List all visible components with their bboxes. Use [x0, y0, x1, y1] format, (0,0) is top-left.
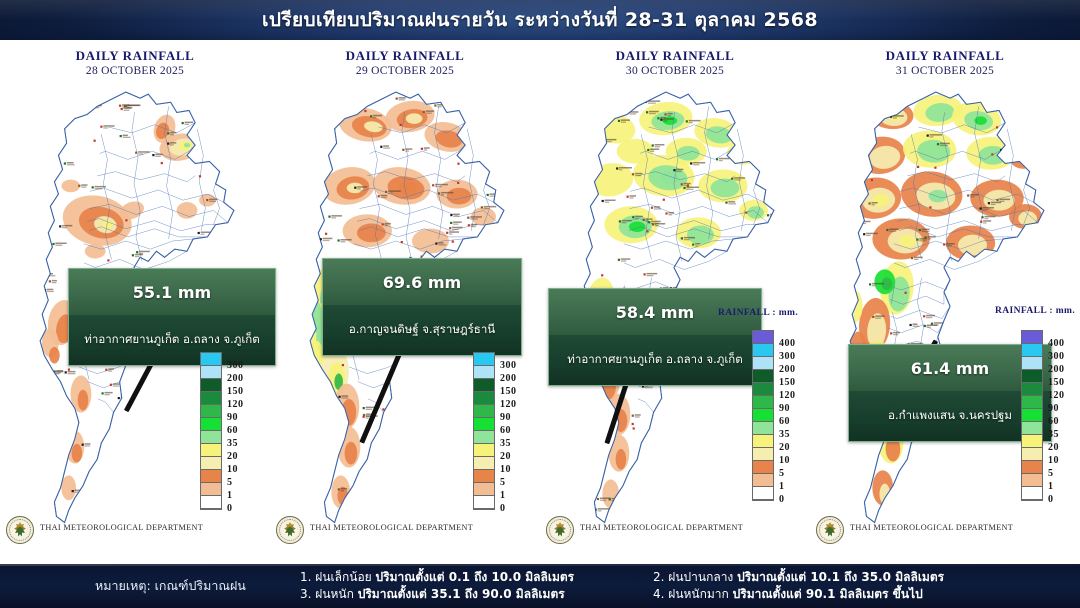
legend-swatch-150	[201, 379, 221, 392]
legend-label-120: 120	[227, 398, 244, 411]
legend-label-20: 20	[227, 450, 244, 463]
legend-swatch-35	[1022, 422, 1042, 435]
legend-label-1: 1	[1048, 480, 1065, 493]
panel-title-29: DAILY RAINFALL	[270, 48, 540, 64]
footer-item-2-name: ฝนปานกลาง	[668, 570, 733, 584]
title-bar: เปรียบเทียบปริมาณฝนรายวัน ระหว่างวันที่ …	[0, 0, 1080, 40]
panel-date-31: 31 OCTOBER 2025	[810, 65, 1080, 77]
legend-swatch-35	[201, 431, 221, 444]
legend-label-10: 10	[779, 454, 796, 467]
legend-label-150: 150	[779, 376, 796, 389]
panel-title-30: DAILY RAINFALL	[540, 48, 810, 64]
legend-label-5: 5	[227, 476, 244, 489]
max-rainfall-callout-29[interactable]: 69.6 mmอ.กาญจนดิษฐ์ จ.สุราษฎร์ธานี	[322, 258, 522, 356]
footer-notes: หมายเหตุ: เกณฑ์ปริมาณฝน 1. ฝนเล็กน้อย ปร…	[0, 564, 1080, 608]
legend-label-1: 1	[227, 489, 244, 502]
legend-swatch-300	[1022, 344, 1042, 357]
legend-swatch-90	[474, 405, 494, 418]
footer-item-2: 2. ฝนปานกลาง ปริมาณตั้งแต่ 10.1 ถึง 35.0…	[653, 569, 944, 586]
legend-label-20: 20	[500, 450, 517, 463]
legend-swatch-0	[1022, 487, 1042, 500]
footer-item-4-range: ปริมาณตั้งแต่ 90.1 มิลลิเมตร ขึ้นไป	[733, 587, 923, 601]
footer-item-1-num: 1.	[300, 570, 311, 584]
legend-swatch-90	[753, 396, 773, 409]
callout-value-29: 69.6 mm	[323, 259, 521, 305]
legend-swatch-300	[753, 344, 773, 357]
page-title: เปรียบเทียบปริมาณฝนรายวัน ระหว่างวันที่ …	[0, 0, 1080, 40]
legend-swatch-10	[474, 457, 494, 470]
footer-item-1: 1. ฝนเล็กน้อย ปริมาณตั้งแต่ 0.1 ถึง 10.0…	[300, 569, 574, 586]
credit-block-31: THAI METEOROLOGICAL DEPARTMENT	[810, 516, 1080, 542]
legend-label-5: 5	[500, 476, 517, 489]
legend-swatch-60	[753, 409, 773, 422]
legend-colorbar-30: 4003002001501209060352010510	[752, 330, 774, 501]
legend-label-5: 5	[1048, 467, 1065, 480]
legend-swatch-200	[474, 366, 494, 379]
legend-swatch-200	[201, 366, 221, 379]
legend-swatch-120	[1022, 383, 1042, 396]
legend-label-400: 400	[779, 337, 796, 350]
credit-block-29: THAI METEOROLOGICAL DEPARTMENT	[270, 516, 540, 542]
legend-label-300: 300	[1048, 350, 1065, 363]
legend-swatch-60	[1022, 409, 1042, 422]
legend-label-1: 1	[500, 489, 517, 502]
legend-label-120: 120	[1048, 389, 1065, 402]
legend-label-150: 150	[1048, 376, 1065, 389]
legend-title-30: RAINFALL : mm.	[718, 308, 798, 318]
legend-swatch-5	[1022, 461, 1042, 474]
legend-label-35: 35	[1048, 428, 1065, 441]
legend-label-400: 400	[1048, 337, 1065, 350]
legend-colorbar-29: 3002001501209060352010510	[473, 352, 495, 510]
footer-item-4: 4. ฝนหนักมาก ปริมาณตั้งแต่ 90.1 มิลลิเมต…	[653, 586, 944, 603]
legend-swatch-20	[201, 444, 221, 457]
legend-label-200: 200	[227, 372, 244, 385]
legend-swatch-1	[474, 483, 494, 496]
legend-swatch-120	[474, 392, 494, 405]
legend-label-300: 300	[227, 359, 244, 372]
tmd-seal-icon	[816, 516, 844, 544]
legend-swatch-150	[474, 379, 494, 392]
legend-label-0: 0	[227, 502, 244, 515]
legend-label-60: 60	[500, 424, 517, 437]
legend-swatch-35	[474, 431, 494, 444]
legend-label-0: 0	[500, 502, 517, 515]
credit-block-30: THAI METEOROLOGICAL DEPARTMENT	[540, 516, 810, 542]
legend-label-35: 35	[500, 437, 517, 450]
legend-swatch-90	[1022, 396, 1042, 409]
legend-swatch-1	[201, 483, 221, 496]
panel-date-30: 30 OCTOBER 2025	[540, 65, 810, 77]
legend-label-35: 35	[227, 437, 244, 450]
legend-label-35: 35	[779, 428, 796, 441]
legend-label-90: 90	[227, 411, 244, 424]
legend-label-10: 10	[500, 463, 517, 476]
panel-title-31: DAILY RAINFALL	[810, 48, 1080, 64]
legend-swatch-300	[474, 353, 494, 366]
panel-date-29: 29 OCTOBER 2025	[270, 65, 540, 77]
callout-station-30: ท่าอากาศยานภูเก็ต อ.ถลาง จ.ภูเก็ต	[549, 335, 761, 385]
legend-swatch-120	[753, 383, 773, 396]
legend-title-31: RAINFALL : mm.	[995, 306, 1075, 316]
legend-swatch-300	[201, 353, 221, 366]
footer-item-1-name: ฝนเล็กน้อย	[315, 570, 371, 584]
legend-swatch-1	[753, 474, 773, 487]
legend-label-200: 200	[1048, 363, 1065, 376]
max-rainfall-callout-30[interactable]: 58.4 mmท่าอากาศยานภูเก็ต อ.ถลาง จ.ภูเก็ต	[548, 288, 762, 386]
legend-swatch-0	[201, 496, 221, 509]
legend-swatch-20	[474, 444, 494, 457]
legend-labels-29: 3002001501209060352010510	[500, 359, 517, 515]
credit-block-28: THAI METEOROLOGICAL DEPARTMENT	[0, 516, 270, 542]
footer-item-4-name: ฝนหนักมาก	[668, 587, 729, 601]
legend-colorbar-28: 3002001501209060352010510	[200, 352, 222, 510]
legend-swatch-120	[201, 392, 221, 405]
legend-label-60: 60	[779, 415, 796, 428]
legend-label-60: 60	[227, 424, 244, 437]
legend-swatch-400	[753, 331, 773, 344]
legend-swatch-20	[1022, 435, 1042, 448]
footer-item-2-num: 2.	[653, 570, 664, 584]
legend-label-5: 5	[779, 467, 796, 480]
legend-label-90: 90	[1048, 402, 1065, 415]
legend-label-120: 120	[500, 398, 517, 411]
legend-label-300: 300	[779, 350, 796, 363]
legend-label-20: 20	[1048, 441, 1065, 454]
legend-swatch-1	[1022, 474, 1042, 487]
footer-item-1-range: ปริมาณตั้งแต่ 0.1 ถึง 10.0 มิลลิเมตร	[376, 570, 575, 584]
legend-label-300: 300	[500, 359, 517, 372]
legend-labels-31: 4003002001501209060352010510	[1048, 337, 1065, 506]
legend-swatch-10	[753, 448, 773, 461]
footer-criteria-col-2: 2. ฝนปานกลาง ปริมาณตั้งแต่ 10.1 ถึง 35.0…	[653, 569, 944, 603]
legend-swatch-20	[753, 435, 773, 448]
legend-label-60: 60	[1048, 415, 1065, 428]
panel-date-28: 28 OCTOBER 2025	[0, 65, 270, 77]
legend-label-10: 10	[227, 463, 244, 476]
legend-swatch-5	[474, 470, 494, 483]
legend-swatch-60	[474, 418, 494, 431]
legend-label-0: 0	[1048, 493, 1065, 506]
footer-item-2-range: ปริมาณตั้งแต่ 10.1 ถึง 35.0 มิลลิเมตร	[737, 570, 944, 584]
legend-swatch-0	[474, 496, 494, 509]
tmd-seal-icon	[546, 516, 574, 544]
footer-item-4-num: 4.	[653, 587, 664, 601]
footer-note-label: หมายเหตุ: เกณฑ์ปริมาณฝน	[95, 576, 246, 596]
credit-text: THAI METEOROLOGICAL DEPARTMENT	[850, 523, 1078, 532]
legend-labels-30: 4003002001501209060352010510	[779, 337, 796, 506]
callout-station-28: ท่าอากาศยานภูเก็ต อ.ถลาง จ.ภูเก็ต	[69, 315, 275, 365]
legend-swatch-150	[1022, 370, 1042, 383]
legend-label-150: 150	[500, 385, 517, 398]
credit-text: THAI METEOROLOGICAL DEPARTMENT	[580, 523, 808, 532]
legend-colorbar-31: 4003002001501209060352010510	[1021, 330, 1043, 501]
credit-text: THAI METEOROLOGICAL DEPARTMENT	[310, 523, 538, 532]
footer-criteria-col-1: 1. ฝนเล็กน้อย ปริมาณตั้งแต่ 0.1 ถึง 10.0…	[300, 569, 574, 603]
legend-swatch-400	[1022, 331, 1042, 344]
legend-label-90: 90	[779, 402, 796, 415]
legend-label-0: 0	[779, 493, 796, 506]
footer-item-3-range: ปริมาณตั้งแต่ 35.1 ถึง 90.0 มิลลิเมตร	[358, 587, 565, 601]
tmd-seal-icon	[6, 516, 34, 544]
legend-label-200: 200	[779, 363, 796, 376]
panel-title-28: DAILY RAINFALL	[0, 48, 270, 64]
legend-label-200: 200	[500, 372, 517, 385]
legend-swatch-10	[201, 457, 221, 470]
legend-swatch-0	[753, 487, 773, 500]
legend-label-90: 90	[500, 411, 517, 424]
footer-item-3-num: 3.	[300, 587, 311, 601]
legend-swatch-35	[753, 422, 773, 435]
legend-swatch-90	[201, 405, 221, 418]
legend-label-10: 10	[1048, 454, 1065, 467]
callout-value-28: 55.1 mm	[69, 269, 275, 315]
legend-label-120: 120	[779, 389, 796, 402]
callout-station-29: อ.กาญจนดิษฐ์ จ.สุราษฎร์ธานี	[323, 305, 521, 355]
legend-swatch-200	[1022, 357, 1042, 370]
legend-swatch-10	[1022, 448, 1042, 461]
max-rainfall-callout-28[interactable]: 55.1 mmท่าอากาศยานภูเก็ต อ.ถลาง จ.ภูเก็ต	[68, 268, 276, 366]
legend-labels-28: 3002001501209060352010510	[227, 359, 244, 515]
legend-swatch-200	[753, 357, 773, 370]
legend-swatch-5	[753, 461, 773, 474]
legend-swatch-60	[201, 418, 221, 431]
credit-text: THAI METEOROLOGICAL DEPARTMENT	[40, 523, 268, 532]
footer-item-3: 3. ฝนหนัก ปริมาณตั้งแต่ 35.1 ถึง 90.0 มิ…	[300, 586, 574, 603]
legend-swatch-150	[753, 370, 773, 383]
legend-label-150: 150	[227, 385, 244, 398]
legend-label-20: 20	[779, 441, 796, 454]
legend-swatch-5	[201, 470, 221, 483]
footer-item-3-name: ฝนหนัก	[315, 587, 354, 601]
legend-label-1: 1	[779, 480, 796, 493]
tmd-seal-icon	[276, 516, 304, 544]
